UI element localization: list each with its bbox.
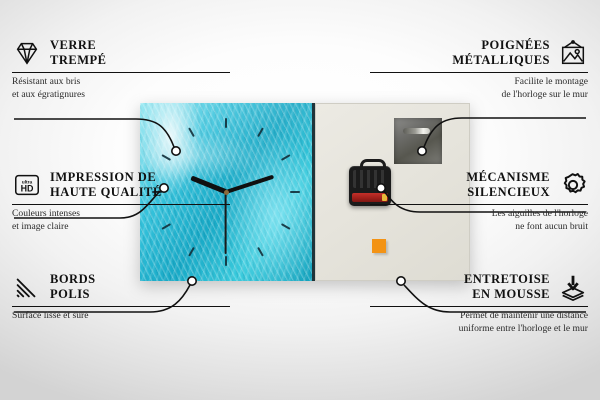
metal-hanger-bracket [394, 118, 442, 164]
feature-bords-polis: BORDS POLIS Surface lisse et sûre [12, 272, 230, 323]
clock-tick [281, 223, 291, 230]
polished-edges-icon [12, 272, 42, 302]
feature-poignees-metalliques: POIGNÉES MÉTALLIQUES Facilite le montage… [370, 38, 588, 102]
feature-subtitle: Les aiguilles de l'horloge ne font aucun… [370, 208, 588, 234]
title-rule [370, 306, 588, 308]
foam-spacer-icon [558, 272, 588, 302]
title-rule [12, 72, 230, 74]
clock-tick [188, 247, 195, 257]
ultra-hd-icon: ultra HD [12, 170, 42, 200]
title-rule [370, 204, 588, 206]
title-rule [12, 306, 230, 308]
clock-tick [257, 127, 264, 137]
feature-subtitle: Permet de maintenir une distance uniform… [370, 310, 588, 336]
infographic-canvas: VERRE TREMPÉ Résistant aux bris et aux é… [0, 0, 600, 400]
feature-mecanisme-silencieux: MÉCANISME SILENCIEUX Les aiguilles de l'… [370, 170, 588, 234]
title-rule [12, 204, 230, 206]
clock-tick [188, 127, 195, 137]
feature-title: BORDS POLIS [50, 272, 96, 303]
feature-subtitle: Résistant aux bris et aux égratignures [12, 76, 230, 102]
diamond-icon [12, 38, 42, 68]
clock-tick [225, 118, 227, 128]
clock-tick [161, 154, 171, 161]
feature-verre-trempe: VERRE TREMPÉ Résistant aux bris et aux é… [12, 38, 230, 102]
svg-text:HD: HD [21, 184, 34, 194]
clock-tick [281, 154, 291, 161]
title-rule [370, 72, 588, 74]
feature-title: ENTRETOISE EN MOUSSE [464, 272, 550, 303]
feature-title: MÉCANISME SILENCIEUX [466, 170, 550, 201]
feature-subtitle: Couleurs intenses et image claire [12, 208, 230, 234]
picture-frame-hanging-icon [558, 38, 588, 68]
feature-entretoise-en-mousse: ENTRETOISE EN MOUSSE Permet de maintenir… [370, 272, 588, 336]
feature-impression-haute-qualite: ultra HD IMPRESSION DE HAUTE QUALITÉ Cou… [12, 170, 230, 234]
clock-tick [225, 256, 227, 266]
feature-subtitle: Surface lisse et sûre [12, 310, 230, 323]
gear-icon [558, 170, 588, 200]
feature-subtitle: Facilite le montage de l'horloge sur le … [370, 76, 588, 102]
clock-tick [257, 247, 264, 257]
bracket-slot [403, 128, 430, 134]
feature-title: VERRE TREMPÉ [50, 38, 106, 69]
clock-minute-hand [225, 175, 274, 194]
foam-spacer [372, 239, 386, 253]
feature-title: POIGNÉES MÉTALLIQUES [452, 38, 550, 69]
clock-tick [290, 191, 300, 193]
feature-title: IMPRESSION DE HAUTE QUALITÉ [50, 170, 162, 201]
